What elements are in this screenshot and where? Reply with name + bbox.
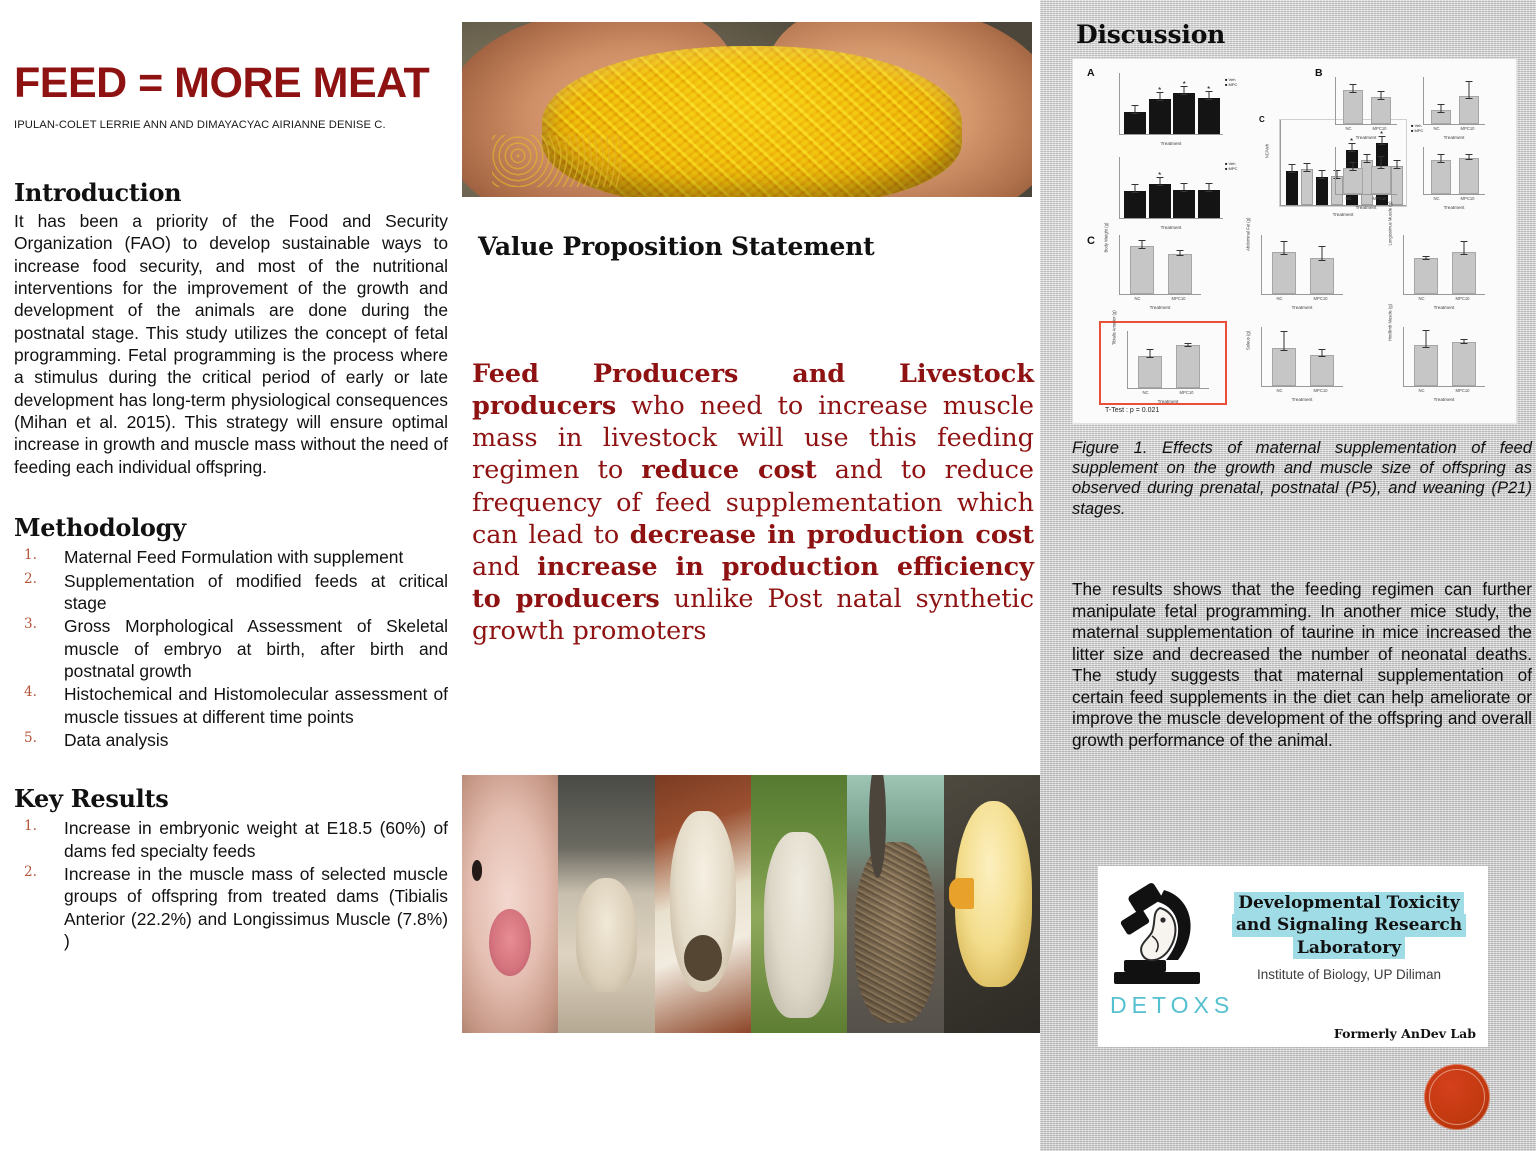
feed-dust <box>492 135 622 187</box>
introduction-text: It has been a priority of the Food and S… <box>14 210 448 478</box>
chart-panelC-abdominal-fat: Abdominal Fat (g) NCMPC10 Treatment <box>1261 235 1343 295</box>
feed-pellets-photo <box>462 22 1032 197</box>
bar <box>1431 110 1450 124</box>
x-axis-label: Treatment <box>1403 305 1485 310</box>
discussion-heading: Discussion <box>1076 20 1522 49</box>
lab-institute: Institute of Biology, UP Diliman <box>1220 967 1478 982</box>
vps-segment: and <box>472 552 537 582</box>
list-item: Increase in the muscle mass of selected … <box>14 863 448 952</box>
bar <box>1414 258 1438 294</box>
x-tick-labels: NCMPC10 <box>1403 296 1485 301</box>
introduction-heading: Introduction <box>14 178 448 207</box>
y-axis-label: Longissimus Muscle (g) <box>1388 202 1393 246</box>
sheep-photo <box>751 775 847 1033</box>
x-axis-label: Treatment <box>1119 141 1223 146</box>
page-title: FEED = MORE MEAT <box>14 62 448 106</box>
x-tick-labels: NCMPC10 <box>1119 296 1201 301</box>
panel-label-b: B <box>1315 67 1323 79</box>
bar <box>1371 97 1390 124</box>
x-tick-labels: NCMPC10 <box>1423 196 1485 201</box>
x-axis-label: Treatment <box>1261 305 1343 310</box>
bar <box>1173 190 1195 219</box>
chart-bars <box>1407 331 1483 386</box>
chart-panelB-1: NCMPC10 Treatment <box>1335 77 1397 125</box>
x-tick-labels: NCMPC10 <box>1403 388 1485 393</box>
ttest-annotation: T-Test : p = 0.021 <box>1105 407 1159 414</box>
bar <box>1316 177 1328 205</box>
chart-panelB-4: NCMPC10 Treatment <box>1423 147 1485 195</box>
research-poster: FEED = MORE MEAT IPULAN-COLET LERRIE ANN… <box>0 0 1536 1151</box>
x-axis-label: Treatment <box>1423 205 1485 210</box>
chart-bars: * <box>1123 161 1221 218</box>
y-axis-label: Hindlimb Muscle (g) <box>1388 304 1393 341</box>
chart-legend: ■ Veh■ MPC <box>1225 77 1237 87</box>
error-bar <box>1188 343 1189 347</box>
chart-bars <box>1265 239 1341 294</box>
x-tick-labels: NCMPC10 <box>1261 388 1343 393</box>
vps-segment-bold: decrease in production cost <box>630 520 1034 550</box>
bar <box>1371 166 1390 194</box>
error-bar <box>1142 240 1143 249</box>
error-bar <box>1135 105 1136 114</box>
tick-label: MPC10 <box>1461 126 1475 131</box>
error-bar <box>1321 170 1322 179</box>
logo-right: Developmental Toxicity and Signaling Res… <box>1220 874 1478 982</box>
methodology-list: Maternal Feed Formulation with supplemen… <box>14 546 448 751</box>
goats-photo <box>558 775 654 1033</box>
error-bar <box>1464 241 1465 255</box>
tick-label: NC <box>1433 126 1439 131</box>
chart-panelC-body-weight: Body Weight (g) NCMPC10 Treatment <box>1119 235 1201 295</box>
lab-name: Developmental Toxicity and Signaling Res… <box>1220 892 1478 959</box>
vps-segment-bold: reduce cost <box>641 455 816 485</box>
bar <box>1343 168 1362 194</box>
panel-label-c-inset: C <box>1259 115 1265 124</box>
bar <box>1198 190 1220 219</box>
bar <box>1310 355 1334 386</box>
error-bar <box>1426 330 1427 348</box>
y-axis-label: Soleus (g) <box>1246 331 1251 350</box>
rabbit-photo <box>847 775 943 1033</box>
red-seal-logo <box>1424 1064 1490 1130</box>
microscope-embryo-icon <box>1108 874 1212 992</box>
significance-star: * <box>1207 85 1210 94</box>
tick-label: MPC10 <box>1180 390 1194 395</box>
y-axis-label: NC/Veh <box>1265 144 1270 158</box>
tick-label: NC <box>1433 196 1439 201</box>
bar <box>1414 345 1438 386</box>
bar <box>1168 254 1192 294</box>
value-proposition-text: Feed Producers and Livestock producers w… <box>472 358 1034 647</box>
logo-left: DETOXS <box>1108 874 1220 1019</box>
chart-panelC-longissimus: Longissimus Muscle (g) NCMPC10 Treatment <box>1403 235 1485 295</box>
panel-label-a: A <box>1087 67 1095 79</box>
tick-label: NC <box>1418 296 1424 301</box>
x-axis-label: Treatment <box>1119 225 1223 230</box>
chart-bars <box>1339 151 1395 194</box>
chart-panelA-lower: * Treatment <box>1119 157 1223 219</box>
x-tick-labels: NCMPC10 <box>1423 126 1485 131</box>
chart-panelC-hindlimb: Hindlimb Muscle (g) NCMPC10 Treatment <box>1403 327 1485 387</box>
key-results-heading: Key Results <box>14 784 448 813</box>
tick-label: NC <box>1345 196 1351 201</box>
bar: * <box>1173 93 1195 134</box>
bar <box>1310 258 1334 294</box>
chart-panelC-soleus: Soleus (g) NCMPC10 Treatment <box>1261 327 1343 387</box>
lab-name-line-2: and Signaling Research <box>1232 914 1466 936</box>
bar <box>1124 112 1146 134</box>
x-tick-labels: NCMPC10 <box>1127 390 1209 395</box>
livestock-photo-strip <box>462 775 1040 1033</box>
center-column: Value Proposition Statement Feed Produce… <box>462 0 1040 1151</box>
figure-1: A * * * Treatment ■ Veh■ MPC * <box>1072 58 1517 424</box>
x-axis-label: Treatment <box>1119 305 1201 310</box>
y-axis-label: Abdominal Fat (g) <box>1246 218 1251 251</box>
bar <box>1130 246 1154 294</box>
bar <box>1124 191 1146 218</box>
tick-label: MPC10 <box>1373 126 1387 131</box>
tick-label: NC <box>1276 296 1282 301</box>
error-bar <box>1353 84 1354 93</box>
error-bar <box>1291 164 1292 173</box>
x-axis-label: Treatment <box>1127 399 1209 404</box>
tick-label: MPC10 <box>1373 196 1387 201</box>
error-bar <box>1381 156 1382 169</box>
tick-label: NC <box>1418 388 1424 393</box>
formerly-label: Formerly AnDev Lab <box>1334 1026 1476 1041</box>
significance-star: * <box>1158 171 1161 180</box>
chart-bars <box>1265 331 1341 386</box>
error-bar <box>1135 184 1136 193</box>
author-list: IPULAN-COLET LERRIE ANN AND DIMAYACYAC A… <box>14 119 448 131</box>
panel-label-c: C <box>1087 235 1095 247</box>
error-bar <box>1306 163 1307 172</box>
tick-label: NC <box>1134 296 1140 301</box>
error-bar <box>1208 183 1209 192</box>
list-item: Data analysis <box>14 729 448 751</box>
bar <box>1452 342 1476 386</box>
tick-label: MPC10 <box>1456 296 1470 301</box>
chart-panelC-tibialis-anterior: Tibialis Anterior (g) NCMPC10 Treatment <box>1127 331 1209 389</box>
x-axis-label: Treatment <box>1403 397 1485 402</box>
list-item: Maternal Feed Formulation with supplemen… <box>14 546 448 568</box>
tick-label: NC <box>1142 390 1148 395</box>
bar <box>1343 90 1362 124</box>
left-column: FEED = MORE MEAT IPULAN-COLET LERRIE ANN… <box>0 0 462 1151</box>
detoxs-wordmark: DETOXS <box>1110 992 1220 1019</box>
x-tick-labels: NCMPC10 <box>1261 296 1343 301</box>
key-results-list: Increase in embryonic weight at E18.5 (6… <box>14 817 448 952</box>
list-item: Gross Morphological Assessment of Skelet… <box>14 615 448 682</box>
bar <box>1286 171 1298 205</box>
x-axis-label: Treatment <box>1423 135 1485 140</box>
chart-legend: ■ Veh■ MPC <box>1225 161 1237 171</box>
error-bar <box>1284 241 1285 255</box>
chart-bars <box>1427 151 1483 194</box>
error-bar <box>1426 256 1427 260</box>
chart-bars <box>1407 239 1483 294</box>
chart-legend: ■ Veh■ MPC <box>1411 123 1423 133</box>
value-proposition-heading: Value Proposition Statement <box>478 232 875 261</box>
pig-photo <box>462 775 558 1033</box>
list-item: Histochemical and Histomolecular assessm… <box>14 683 448 728</box>
tick-label: NC <box>1276 388 1282 393</box>
error-bar <box>1469 81 1470 99</box>
error-bar <box>1150 349 1151 358</box>
chart-panelA-upper: * * * Treatment <box>1119 73 1223 135</box>
error-bar <box>1381 91 1382 100</box>
figure-caption: Figure 1. Effects of maternal supplement… <box>1072 438 1532 519</box>
tick-label: MPC10 <box>1461 196 1475 201</box>
bar: * <box>1149 99 1171 134</box>
y-axis-label: Tibialis Anterior (g) <box>1112 310 1117 345</box>
methodology-heading: Methodology <box>14 513 448 542</box>
error-bar <box>1464 339 1465 344</box>
tick-label: NC <box>1345 126 1351 131</box>
error-bar <box>1441 154 1442 163</box>
chart-bars <box>1339 81 1395 124</box>
bar <box>1272 348 1296 387</box>
lab-name-line-3: Laboratory <box>1293 937 1405 959</box>
bar <box>1272 252 1296 294</box>
bar <box>1431 160 1450 194</box>
x-tick-labels: NCMPC10 <box>1335 196 1397 201</box>
bar <box>1301 169 1313 205</box>
error-bar <box>1469 154 1470 160</box>
tick-label: MPC10 <box>1456 388 1470 393</box>
lab-logo-card: DETOXS Developmental Toxicity and Signal… <box>1098 866 1488 1047</box>
x-axis-label: Treatment <box>1261 397 1343 402</box>
chart-bars <box>1427 81 1483 124</box>
x-tick-labels: NCMPC10 <box>1335 126 1397 131</box>
error-bar <box>1353 162 1354 171</box>
bar <box>1459 158 1478 194</box>
error-bar <box>1284 331 1285 351</box>
error-bar <box>1184 183 1185 192</box>
chart-bars: * * * <box>1123 77 1221 134</box>
y-axis-label: Body Weight (g) <box>1104 223 1109 253</box>
error-bar <box>1322 349 1323 357</box>
discussion-text: The results shows that the feeding regim… <box>1072 579 1532 752</box>
tick-label: MPC10 <box>1314 388 1328 393</box>
lab-name-line-1: Developmental Toxicity <box>1234 892 1464 914</box>
bar: * <box>1198 98 1220 134</box>
error-bar <box>1180 250 1181 256</box>
list-item: Increase in embryonic weight at E18.5 (6… <box>14 817 448 862</box>
chart-bars <box>1123 239 1199 294</box>
list-item: Supplementation of modified feeds at cri… <box>14 570 448 615</box>
error-bar <box>1322 246 1323 261</box>
significance-star: * <box>1158 86 1161 95</box>
significance-star: * <box>1183 80 1186 89</box>
x-axis-label: Treatment <box>1335 135 1397 140</box>
cow-photo <box>655 775 751 1033</box>
error-bar <box>1441 104 1442 113</box>
tick-label: MPC10 <box>1314 296 1328 301</box>
bar: * <box>1149 184 1171 218</box>
chart-panelB-2: NCMPC10 Treatment <box>1423 77 1485 125</box>
bar <box>1138 356 1162 388</box>
chart-bars <box>1131 335 1207 388</box>
tick-label: MPC10 <box>1172 296 1186 301</box>
bar <box>1176 345 1200 388</box>
bar <box>1459 96 1478 124</box>
chick-photo <box>944 775 1040 1033</box>
chart-panelB-3: NCMPC10 Treatment <box>1335 147 1397 195</box>
bar <box>1452 252 1476 294</box>
